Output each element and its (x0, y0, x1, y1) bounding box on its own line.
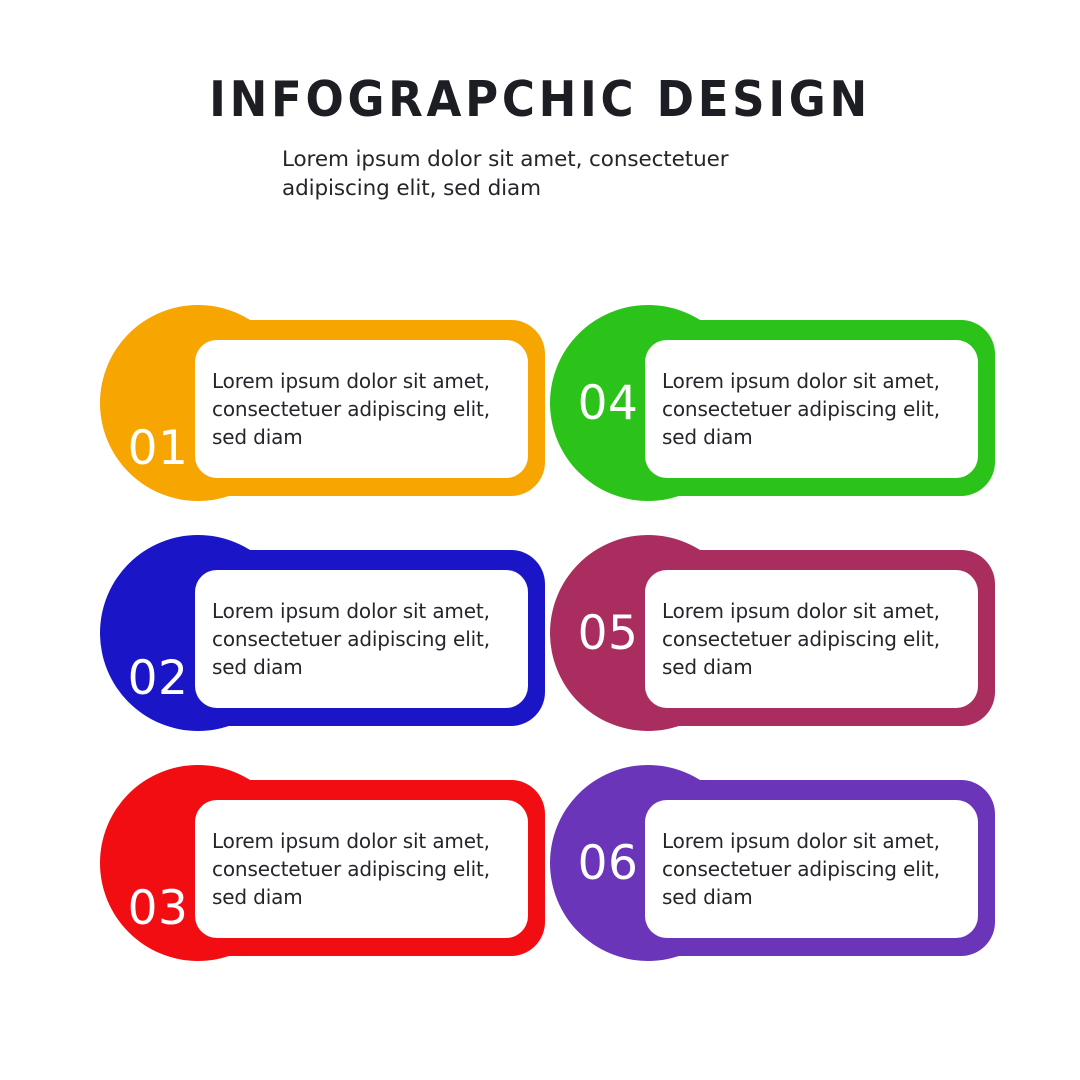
card-text-02: Lorem ipsum dolor sit amet, consectetuer… (212, 597, 510, 681)
cards-row-1: Lorem ipsum dolor sit amet, consectetuer… (0, 305, 1080, 535)
info-card-06[interactable]: Lorem ipsum dolor sit amet, consectetuer… (550, 765, 995, 961)
card-number-06: 06 (570, 840, 646, 887)
card-number-05: 05 (570, 610, 646, 657)
infographic-poster: INFOGRAPCHIC DESIGN Lorem ipsum dolor si… (0, 0, 1080, 1080)
info-card-03[interactable]: Lorem ipsum dolor sit amet, consectetuer… (100, 765, 545, 961)
cards-grid: Lorem ipsum dolor sit amet, consectetuer… (0, 305, 1080, 995)
info-card-01[interactable]: Lorem ipsum dolor sit amet, consectetuer… (100, 305, 545, 501)
card-number-02: 02 (120, 655, 196, 702)
card-number-03: 03 (120, 885, 196, 932)
page-title: INFOGRAPCHIC DESIGN (43, 72, 1037, 128)
card-number-04: 04 (570, 380, 646, 427)
card-text-05: Lorem ipsum dolor sit amet, consectetuer… (662, 597, 960, 681)
info-card-05[interactable]: Lorem ipsum dolor sit amet, consectetuer… (550, 535, 995, 731)
card-panel-03: Lorem ipsum dolor sit amet, consectetuer… (195, 800, 528, 938)
card-panel-01: Lorem ipsum dolor sit amet, consectetuer… (195, 340, 528, 478)
card-number-01: 01 (120, 425, 196, 472)
card-text-03: Lorem ipsum dolor sit amet, consectetuer… (212, 827, 510, 911)
card-text-01: Lorem ipsum dolor sit amet, consectetuer… (212, 367, 510, 451)
cards-row-3: Lorem ipsum dolor sit amet, consectetuer… (0, 765, 1080, 995)
poster-header: INFOGRAPCHIC DESIGN Lorem ipsum dolor si… (0, 72, 1080, 203)
card-text-06: Lorem ipsum dolor sit amet, consectetuer… (662, 827, 960, 911)
info-card-04[interactable]: Lorem ipsum dolor sit amet, consectetuer… (550, 305, 995, 501)
card-panel-05: Lorem ipsum dolor sit amet, consectetuer… (645, 570, 978, 708)
card-panel-04: Lorem ipsum dolor sit amet, consectetuer… (645, 340, 978, 478)
card-panel-06: Lorem ipsum dolor sit amet, consectetuer… (645, 800, 978, 938)
card-text-04: Lorem ipsum dolor sit amet, consectetuer… (662, 367, 960, 451)
info-card-02[interactable]: Lorem ipsum dolor sit amet, consectetuer… (100, 535, 545, 731)
cards-row-2: Lorem ipsum dolor sit amet, consectetuer… (0, 535, 1080, 765)
page-subtitle: Lorem ipsum dolor sit amet, consectetuer… (0, 145, 800, 203)
card-panel-02: Lorem ipsum dolor sit amet, consectetuer… (195, 570, 528, 708)
